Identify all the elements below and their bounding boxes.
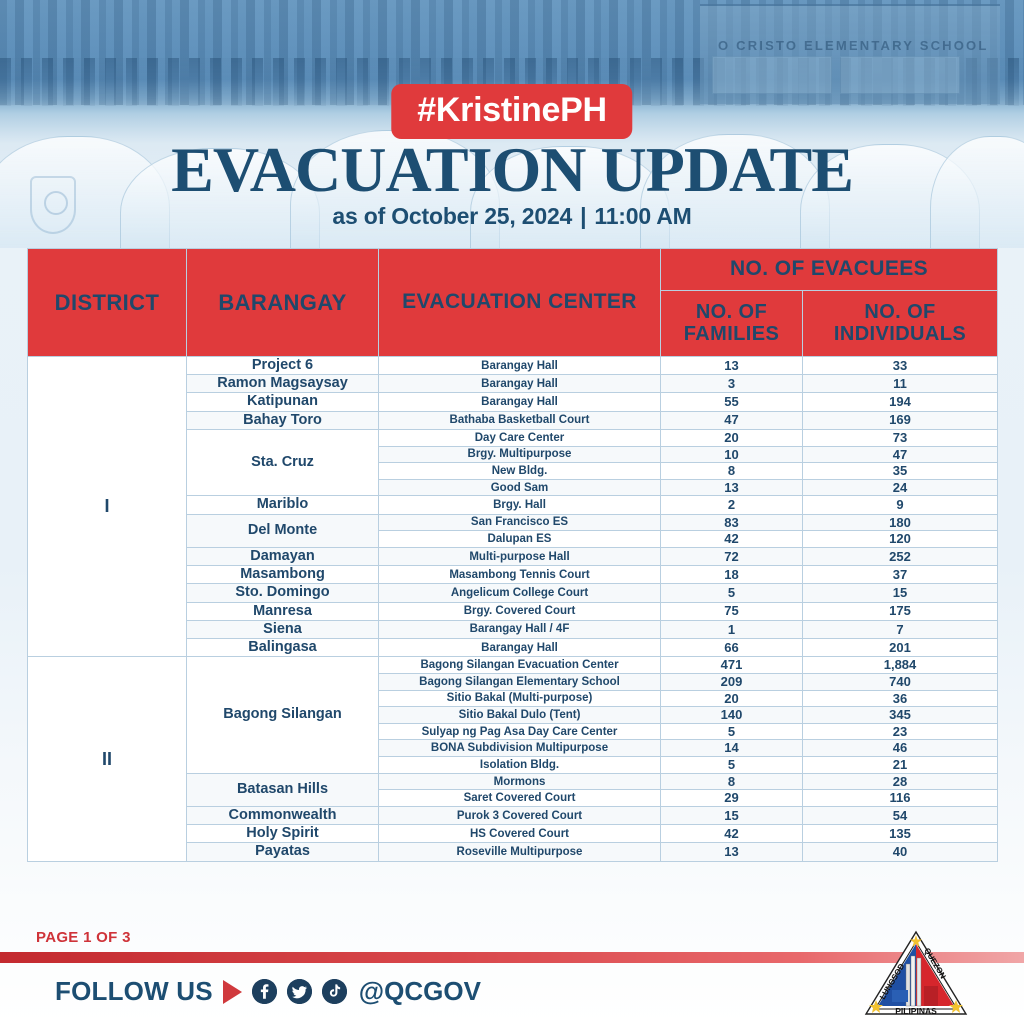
cell-families: 5 xyxy=(661,757,803,774)
cell-evacuation-center: Bagong Silangan Evacuation Center xyxy=(379,657,661,674)
cell-evacuation-center: Brgy. Covered Court xyxy=(379,602,661,620)
cell-barangay: Project 6 xyxy=(187,357,379,375)
cell-evacuation-center: Barangay Hall xyxy=(379,375,661,393)
cell-evacuation-center: Sitio Bakal (Multi-purpose) xyxy=(379,690,661,707)
cell-individuals: 120 xyxy=(803,531,998,548)
cell-barangay: Masambong xyxy=(187,566,379,584)
cell-individuals: 345 xyxy=(803,707,998,724)
cell-evacuation-center: HS Covered Court xyxy=(379,825,661,843)
cell-evacuation-center: Sulyap ng Pag Asa Day Care Center xyxy=(379,723,661,740)
cell-barangay: Commonwealth xyxy=(187,807,379,825)
twitter-icon[interactable] xyxy=(287,979,312,1004)
cell-evacuation-center: Angelicum College Court xyxy=(379,584,661,602)
cell-individuals: 15 xyxy=(803,584,998,602)
cell-individuals: 36 xyxy=(803,690,998,707)
cell-evacuation-center: Purok 3 Covered Court xyxy=(379,807,661,825)
play-triangle-icon xyxy=(223,980,242,1004)
cell-barangay: Holy Spirit xyxy=(187,825,379,843)
cell-individuals: 135 xyxy=(803,825,998,843)
cell-families: 66 xyxy=(661,639,803,657)
cell-individuals: 54 xyxy=(803,807,998,825)
cell-evacuation-center: Isolation Bldg. xyxy=(379,757,661,774)
cell-evacuation-center: Multi-purpose Hall xyxy=(379,547,661,565)
cell-evacuation-center: San Francisco ES xyxy=(379,514,661,531)
cell-evacuation-center: Mormons xyxy=(379,773,661,790)
cell-barangay: Payatas xyxy=(187,843,379,861)
cell-individuals: 28 xyxy=(803,773,998,790)
cell-evacuation-center: Brgy. Multipurpose xyxy=(379,446,661,463)
page-number-label: PAGE 1 OF 3 xyxy=(36,929,131,946)
school-sign-panel-left xyxy=(712,56,832,94)
social-handle: @QCGOV xyxy=(359,976,481,1007)
cell-barangay: Sto. Domingo xyxy=(187,584,379,602)
follow-us-row: FOLLOW US @QCGOV xyxy=(55,976,481,1007)
cell-evacuation-center: Brgy. Hall xyxy=(379,496,661,514)
cell-individuals: 47 xyxy=(803,446,998,463)
cell-barangay: Del Monte xyxy=(187,514,379,547)
cell-individuals: 116 xyxy=(803,790,998,807)
cell-families: 13 xyxy=(661,843,803,861)
cell-individuals: 33 xyxy=(803,357,998,375)
cell-individuals: 194 xyxy=(803,393,998,411)
cell-families: 55 xyxy=(661,393,803,411)
cell-families: 10 xyxy=(661,446,803,463)
cell-families: 83 xyxy=(661,514,803,531)
cell-individuals: 169 xyxy=(803,411,998,429)
facebook-icon[interactable] xyxy=(252,979,277,1004)
cell-families: 13 xyxy=(661,357,803,375)
cell-families: 18 xyxy=(661,566,803,584)
cell-district: II xyxy=(28,657,187,861)
tiktok-icon[interactable] xyxy=(322,979,347,1004)
cell-individuals: 23 xyxy=(803,723,998,740)
cell-individuals: 37 xyxy=(803,566,998,584)
cell-individuals: 73 xyxy=(803,429,998,446)
cell-families: 3 xyxy=(661,375,803,393)
cell-individuals: 252 xyxy=(803,547,998,565)
cell-evacuation-center: Bagong Silangan Elementary School xyxy=(379,673,661,690)
cell-families: 140 xyxy=(661,707,803,724)
cell-district: I xyxy=(28,357,187,657)
cell-evacuation-center: Dalupan ES xyxy=(379,531,661,548)
page-title: EVACUATION UPDATE xyxy=(171,136,853,203)
cell-evacuation-center: Sitio Bakal Dulo (Tent) xyxy=(379,707,661,724)
table-header-row-1: DISTRICT BARANGAY EVACUATION CENTER NO. … xyxy=(28,249,998,291)
evacuation-table-container: DISTRICT BARANGAY EVACUATION CENTER NO. … xyxy=(27,248,997,862)
school-sign-panel-right xyxy=(840,56,960,94)
cell-evacuation-center: Barangay Hall / 4F xyxy=(379,620,661,638)
cell-barangay: Sta. Cruz xyxy=(187,429,379,496)
cell-barangay: Bahay Toro xyxy=(187,411,379,429)
cell-individuals: 9 xyxy=(803,496,998,514)
cell-barangay: Batasan Hills xyxy=(187,773,379,806)
as-of-separator: | xyxy=(572,203,594,229)
cell-individuals: 201 xyxy=(803,639,998,657)
cell-individuals: 35 xyxy=(803,463,998,480)
cell-individuals: 11 xyxy=(803,375,998,393)
cell-families: 8 xyxy=(661,773,803,790)
cell-families: 42 xyxy=(661,825,803,843)
cell-individuals: 175 xyxy=(803,602,998,620)
cell-barangay: Mariblo xyxy=(187,496,379,514)
cell-individuals: 180 xyxy=(803,514,998,531)
hashtag-badge: #KristinePH xyxy=(391,84,632,139)
cell-barangay: Katipunan xyxy=(187,393,379,411)
cell-individuals: 40 xyxy=(803,843,998,861)
col-header-evacuees-group: NO. OF EVACUEES xyxy=(661,249,998,291)
cell-families: 2 xyxy=(661,496,803,514)
as-of-time: 11:00 AM xyxy=(594,203,691,229)
cell-evacuation-center: BONA Subdivision Multipurpose xyxy=(379,740,661,757)
cell-families: 8 xyxy=(661,463,803,480)
cell-individuals: 24 xyxy=(803,479,998,496)
quezon-city-seal: PILIPINAS LUNGSOD QUEZON xyxy=(862,928,970,1020)
cell-evacuation-center: Bathaba Basketball Court xyxy=(379,411,661,429)
cell-evacuation-center: Day Care Center xyxy=(379,429,661,446)
cell-individuals: 7 xyxy=(803,620,998,638)
cell-families: 1 xyxy=(661,620,803,638)
cell-families: 14 xyxy=(661,740,803,757)
table-body: IProject 6Barangay Hall1333Ramon Magsays… xyxy=(28,357,998,862)
cell-barangay: Balingasa xyxy=(187,639,379,657)
col-header-evacuation-center: EVACUATION CENTER xyxy=(379,249,661,357)
cell-families: 47 xyxy=(661,411,803,429)
cell-families: 209 xyxy=(661,673,803,690)
cell-evacuation-center: New Bldg. xyxy=(379,463,661,480)
cell-families: 13 xyxy=(661,479,803,496)
cell-evacuation-center: Barangay Hall xyxy=(379,393,661,411)
cell-families: 75 xyxy=(661,602,803,620)
col-header-district: DISTRICT xyxy=(28,249,187,357)
cell-barangay: Damayan xyxy=(187,547,379,565)
cell-evacuation-center: Barangay Hall xyxy=(379,639,661,657)
cell-barangay: Manresa xyxy=(187,602,379,620)
qc-seal-watermark-icon xyxy=(30,176,76,234)
school-sign-text: O CRISTO ELEMENTARY SCHOOL xyxy=(718,38,989,53)
cell-families: 15 xyxy=(661,807,803,825)
col-header-families: NO. OF FAMILIES xyxy=(661,291,803,357)
cell-families: 42 xyxy=(661,531,803,548)
cell-families: 29 xyxy=(661,790,803,807)
table-row: IIBagong SilanganBagong Silangan Evacuat… xyxy=(28,657,998,674)
cell-barangay: Ramon Magsaysay xyxy=(187,375,379,393)
cell-evacuation-center: Good Sam xyxy=(379,479,661,496)
as-of-date: as of October 25, 2024 xyxy=(332,203,572,229)
cell-evacuation-center: Saret Covered Court xyxy=(379,790,661,807)
cell-individuals: 740 xyxy=(803,673,998,690)
cell-families: 20 xyxy=(661,690,803,707)
cell-evacuation-center: Masambong Tennis Court xyxy=(379,566,661,584)
cell-individuals: 1,884 xyxy=(803,657,998,674)
cell-families: 20 xyxy=(661,429,803,446)
cell-families: 5 xyxy=(661,723,803,740)
evacuation-table: DISTRICT BARANGAY EVACUATION CENTER NO. … xyxy=(27,248,998,862)
cell-individuals: 46 xyxy=(803,740,998,757)
cell-families: 5 xyxy=(661,584,803,602)
evacuation-update-poster: O CRISTO ELEMENTARY SCHOOL #KristinePH E… xyxy=(0,0,1024,1024)
seal-graphic: PILIPINAS LUNGSOD QUEZON xyxy=(862,928,970,1020)
cell-individuals: 21 xyxy=(803,757,998,774)
table-head: DISTRICT BARANGAY EVACUATION CENTER NO. … xyxy=(28,249,998,357)
col-header-barangay: BARANGAY xyxy=(187,249,379,357)
follow-us-label: FOLLOW US xyxy=(55,976,213,1007)
col-header-individuals: NO. OF INDIVIDUALS xyxy=(803,291,998,357)
svg-text:PILIPINAS: PILIPINAS xyxy=(895,1006,937,1016)
table-row: IProject 6Barangay Hall1333 xyxy=(28,357,998,375)
cell-evacuation-center: Barangay Hall xyxy=(379,357,661,375)
cell-barangay: Siena xyxy=(187,620,379,638)
cell-families: 72 xyxy=(661,547,803,565)
cell-families: 471 xyxy=(661,657,803,674)
cell-evacuation-center: Roseville Multipurpose xyxy=(379,843,661,861)
cell-barangay: Bagong Silangan xyxy=(187,657,379,773)
as-of-timestamp: as of October 25, 2024|11:00 AM xyxy=(332,203,691,230)
